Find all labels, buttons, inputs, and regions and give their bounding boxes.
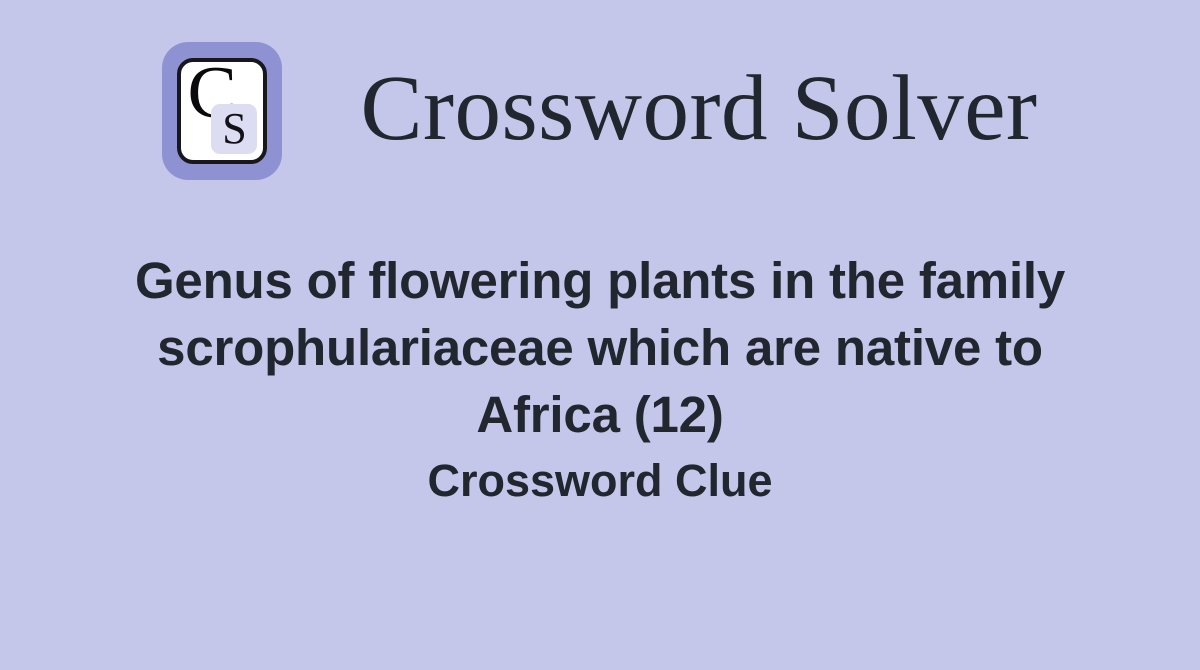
crossword-solver-logo-icon[interactable]: C S xyxy=(162,42,282,180)
clue-line-2: scrophulariaceae which are native to xyxy=(95,314,1105,381)
logo-tile: C S xyxy=(177,58,267,164)
logo-letter-s: S xyxy=(211,104,257,154)
site-header: C S Crossword Solver xyxy=(0,26,1200,196)
logo-letter-s-tile: S xyxy=(211,104,257,154)
site-title[interactable]: Crossword Solver xyxy=(360,62,1037,155)
page-root: C S Crossword Solver Genus of flowering … xyxy=(0,0,1200,670)
clue-heading-block: Genus of flowering plants in the family … xyxy=(95,247,1105,514)
clue-line-1: Genus of flowering plants in the family xyxy=(95,247,1105,314)
clue-suffix-label: Crossword Clue xyxy=(95,448,1105,514)
clue-line-3: Africa (12) xyxy=(95,381,1105,448)
